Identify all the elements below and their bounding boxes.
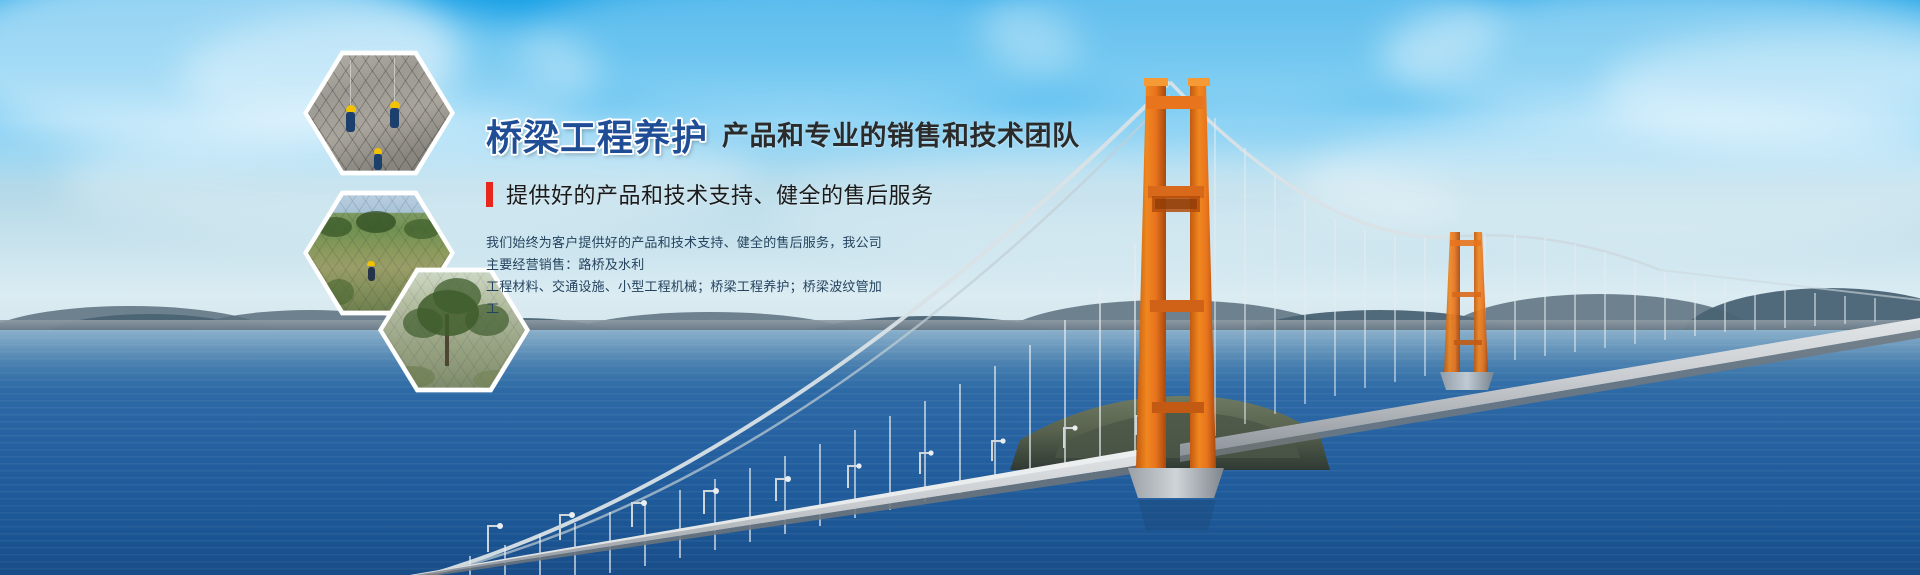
hero-banner: 桥梁工程养护产品和专业的销售和技术团队 提供好的产品和技术支持、健全的售后服务 … bbox=[0, 0, 1920, 575]
description-line-2: 工程材料、交通设施、小型工程机械；桥梁工程养护；桥梁波纹管加工 bbox=[486, 276, 886, 320]
description-line-1: 我们始终为客户提供好的产品和技术支持、健全的售后服务，我公司主要经营销售：路桥及… bbox=[486, 232, 886, 276]
subheadline: 提供好的产品和技术支持、健全的售后服务 bbox=[506, 178, 934, 210]
banner-copy: 桥梁工程养护产品和专业的销售和技术团队 提供好的产品和技术支持、健全的售后服务 … bbox=[486, 120, 1046, 320]
page-title: 桥梁工程养护 bbox=[486, 120, 708, 156]
water-horizon-shimmer bbox=[0, 330, 1920, 390]
headline-secondary: 产品和专业的销售和技术团队 bbox=[722, 123, 1080, 150]
accent-bar bbox=[486, 182, 493, 207]
subheadline-row: 提供好的产品和技术支持、健全的售后服务 bbox=[486, 178, 1046, 210]
headline-row: 桥梁工程养护产品和专业的销售和技术团队 bbox=[486, 120, 1046, 156]
description-text: 我们始终为客户提供好的产品和技术支持、健全的售后服务，我公司主要经营销售：路桥及… bbox=[486, 232, 886, 320]
